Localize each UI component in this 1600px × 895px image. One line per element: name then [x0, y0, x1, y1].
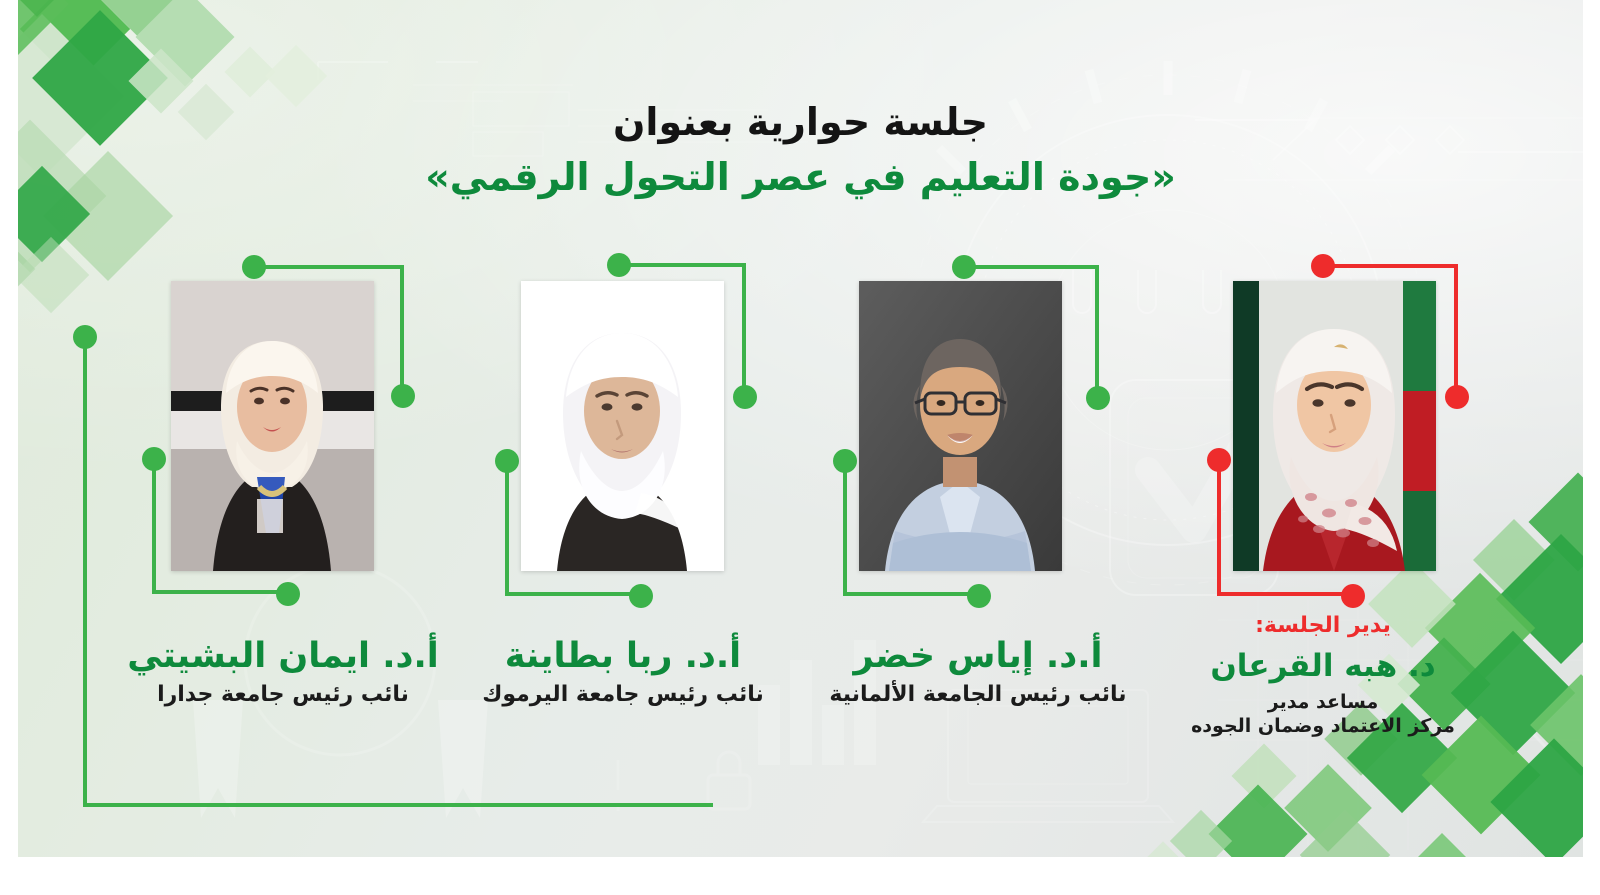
speaker-caption-3: أ.د. إياس خضر نائب رئيس الجامعة الألماني… — [808, 635, 1148, 709]
speaker-caption-1: أ.د. ايمان البشيتي نائب رئيس جامعة جدارا — [108, 635, 458, 709]
portrait-illustration-3 — [859, 281, 1062, 571]
speaker-role-3: نائب رئيس الجامعة الألمانية — [808, 682, 1148, 709]
speaker-caption-4: يدير الجلسة: د. هبه القرعان مساعد مدير م… — [1158, 613, 1488, 739]
speaker-photo-3 — [859, 281, 1062, 571]
headline-line-1: جلسة حوارية بعنوان — [18, 98, 1583, 147]
portrait-illustration-2 — [521, 281, 724, 571]
moderator-label: يدير الجلسة: — [1158, 613, 1488, 640]
speaker-caption-2: أ.د. ربا بطاينة نائب رئيس جامعة اليرموك — [468, 635, 778, 709]
speaker-role-2: نائب رئيس جامعة اليرموك — [468, 682, 778, 709]
speaker-photo-4 — [1233, 281, 1436, 571]
speaker-name-4: د. هبه القرعان — [1158, 648, 1488, 686]
portrait-illustration-1 — [171, 281, 374, 571]
portrait-illustration-4 — [1233, 281, 1436, 571]
speaker-role-1: نائب رئيس جامعة جدارا — [108, 682, 458, 709]
speaker-photo-2 — [521, 281, 724, 571]
speaker-role-4-line2: مركز الاعتماد وضمان الجوده — [1158, 714, 1488, 739]
poster-canvas: جلسة حوارية بعنوان «جودة التعليم في عصر … — [18, 0, 1583, 857]
headline-line-2: «جودة التعليم في عصر التحول الرقمي» — [18, 153, 1583, 202]
speaker-photo-1 — [171, 281, 374, 571]
speaker-role-4-line1: مساعد مدير — [1158, 690, 1488, 715]
page-title: جلسة حوارية بعنوان «جودة التعليم في عصر … — [18, 98, 1583, 201]
speaker-name-3: أ.د. إياس خضر — [808, 635, 1148, 678]
speaker-name-1: أ.د. ايمان البشيتي — [108, 635, 458, 678]
speaker-name-2: أ.د. ربا بطاينة — [468, 635, 778, 678]
